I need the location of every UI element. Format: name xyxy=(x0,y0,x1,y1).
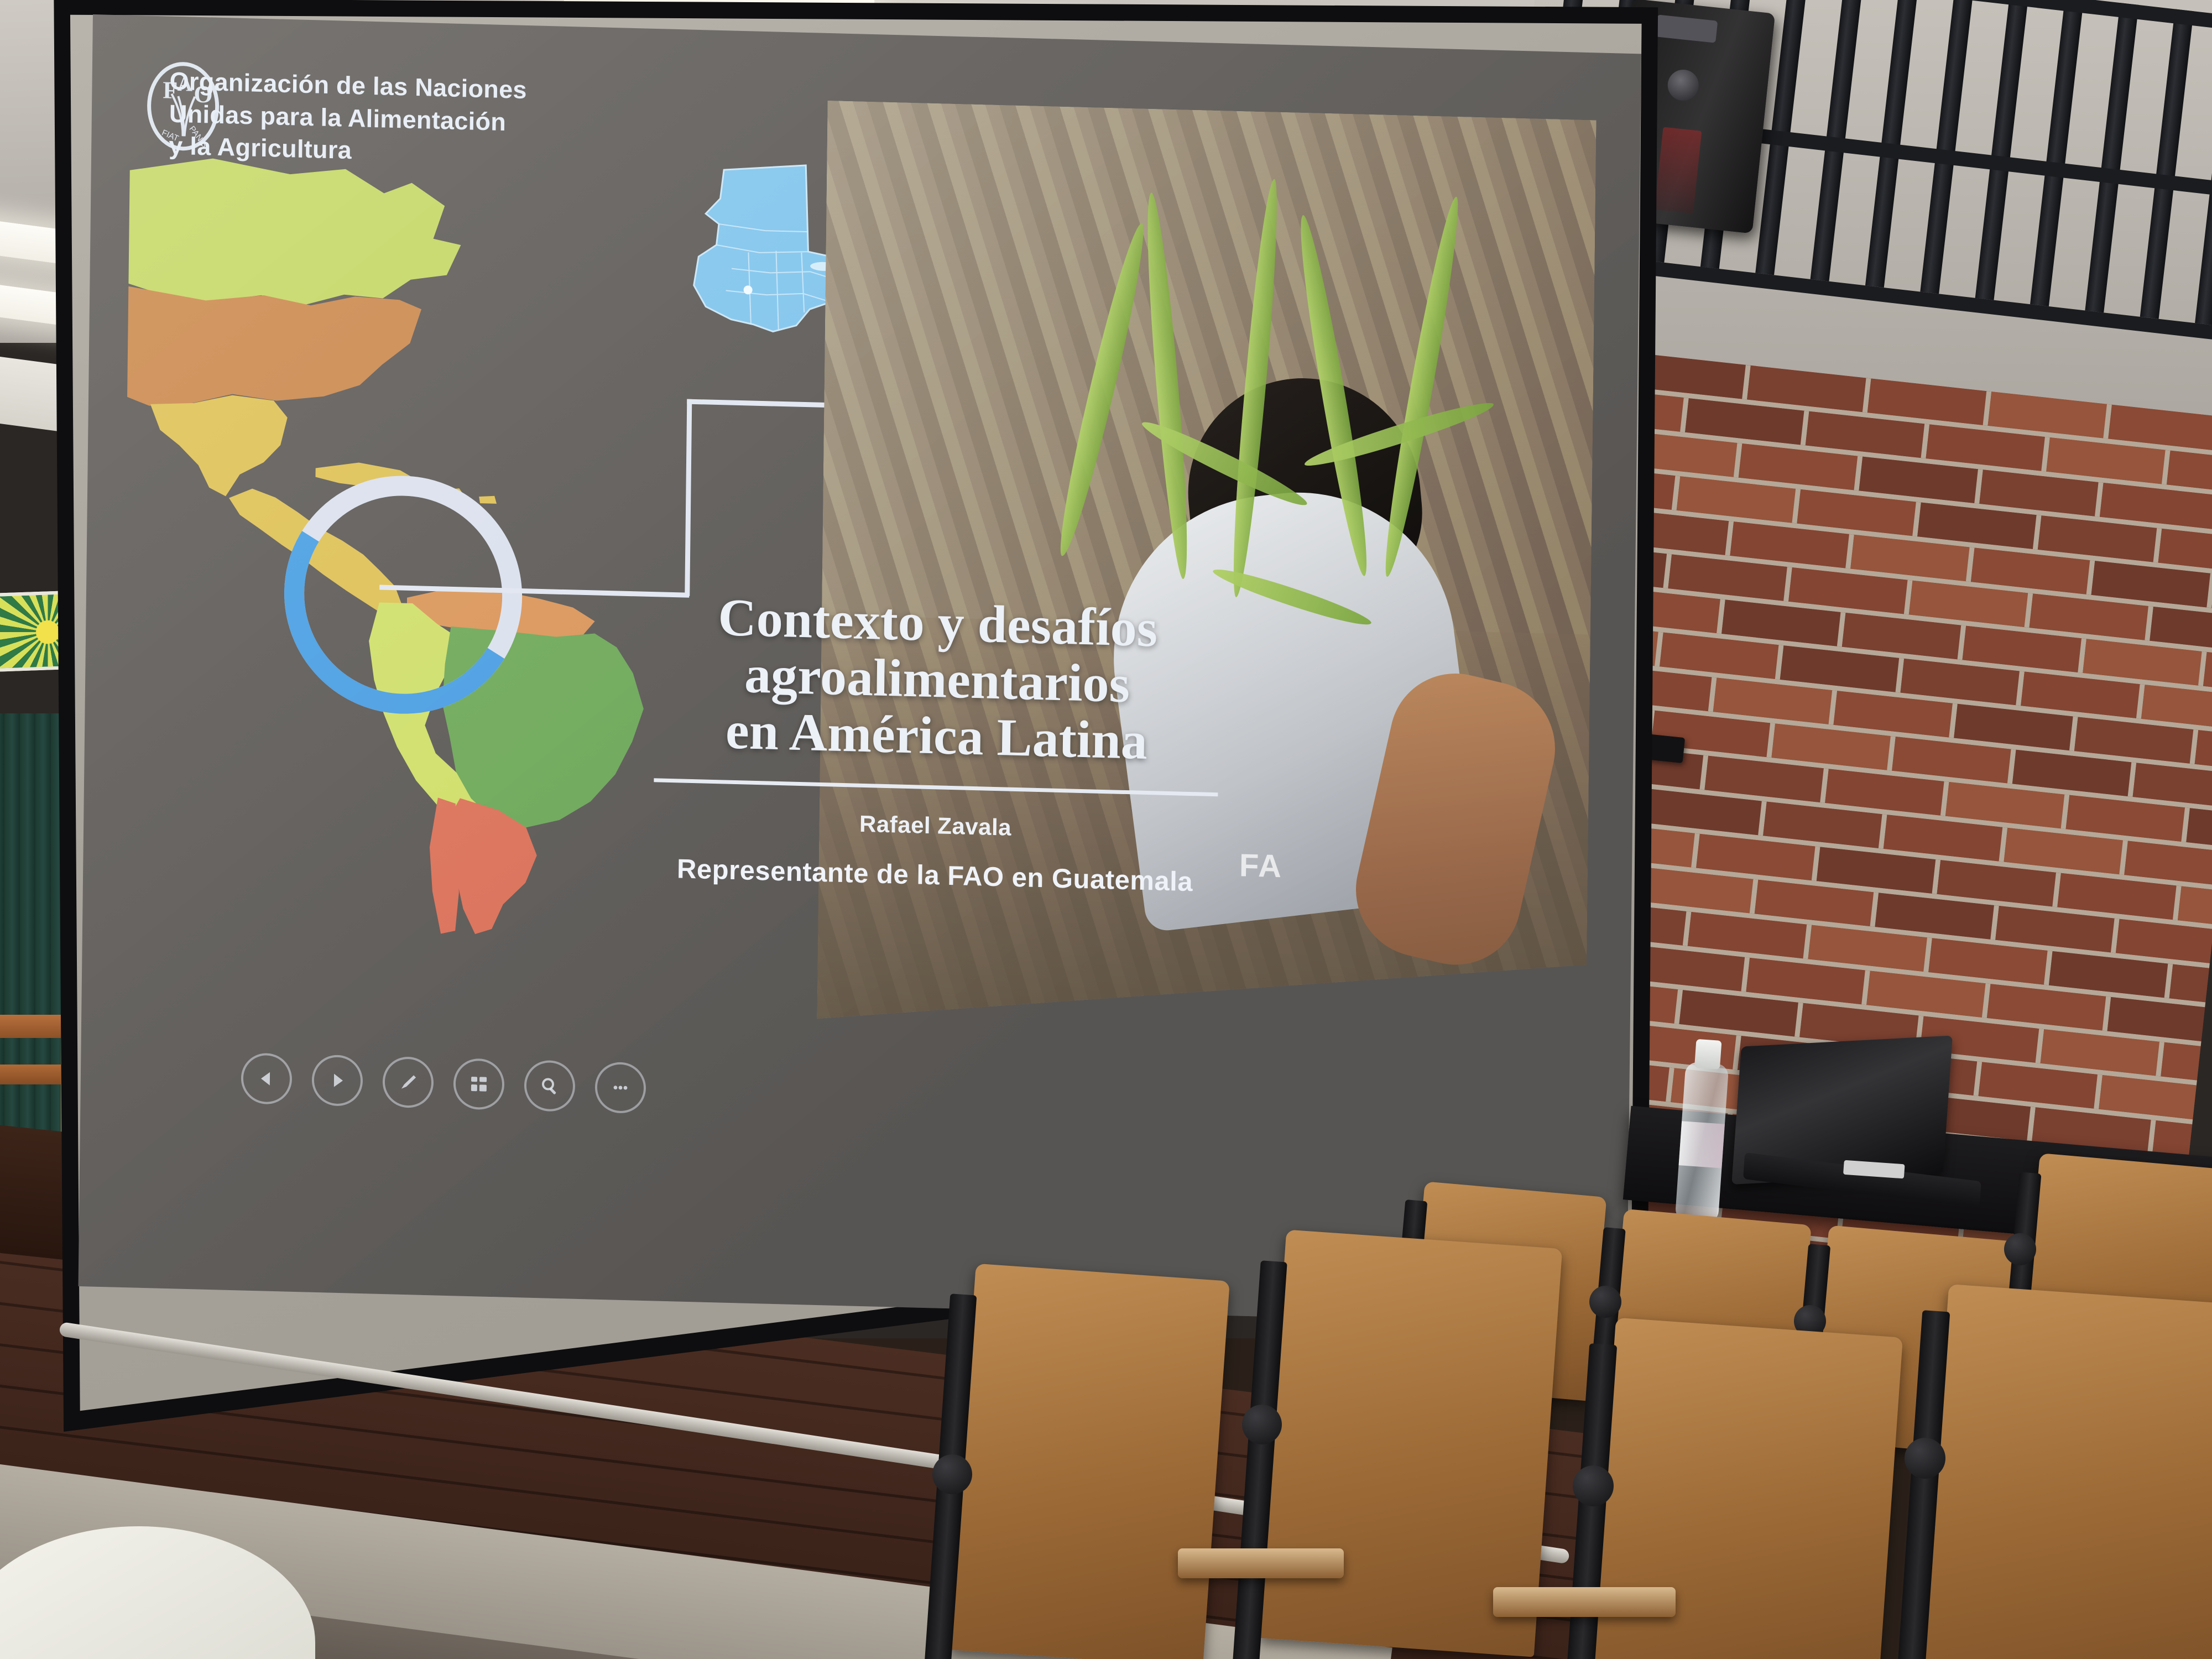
railing-bar xyxy=(2195,15,2212,325)
railing-bar xyxy=(1920,0,1974,294)
title-divider xyxy=(654,779,1218,797)
country-united-states xyxy=(127,286,421,413)
all-slides-button[interactable] xyxy=(453,1058,504,1110)
slide-perspective-wrap: F A O FIAT PANIS Organización de las Nac… xyxy=(79,14,1641,1326)
railing-bar xyxy=(2085,3,2138,312)
pen-tool-button[interactable] xyxy=(382,1056,434,1108)
country-canada xyxy=(128,156,462,309)
presentation-slide: F A O FIAT PANIS Organización de las Nac… xyxy=(79,14,1641,1326)
presenter-laptop[interactable] xyxy=(1731,1034,1996,1206)
room-scene: MAG F A O FIAT PANIS xyxy=(0,0,2212,1659)
island-puerto-rico xyxy=(479,495,497,504)
zoom-tool-button[interactable] xyxy=(524,1060,575,1112)
previous-slide-button[interactable] xyxy=(241,1052,292,1104)
more-options-button[interactable] xyxy=(594,1062,646,1114)
author-name: Rafael Zavala xyxy=(504,802,1367,851)
slide-title: Contexto y desafíos agroalimentarios en … xyxy=(505,583,1370,774)
country-chile xyxy=(429,797,460,934)
railing-bar xyxy=(2140,9,2194,319)
speaker-cone xyxy=(1666,68,1700,102)
country-mexico xyxy=(149,393,288,498)
next-slide-button[interactable] xyxy=(311,1055,363,1107)
railing-bar xyxy=(1975,0,2029,300)
slide-title-block: Contexto y desafíos agroalimentarios en … xyxy=(503,583,1369,902)
presentation-toolbar[interactable] xyxy=(241,1052,646,1114)
railing-bar xyxy=(2030,0,2084,306)
